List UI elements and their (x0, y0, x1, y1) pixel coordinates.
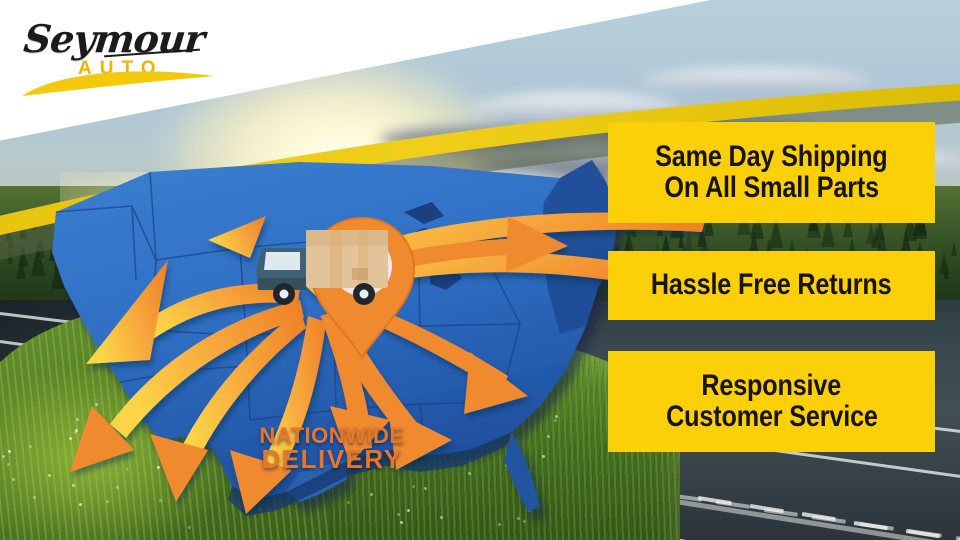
claim-line: Same Day Shipping (655, 142, 887, 173)
claim-line: On All Small Parts (664, 173, 879, 204)
claim-line: Hassle Free Returns (651, 270, 892, 301)
nationwide-delivery-label: NATIONWIDE DELIVERY (252, 425, 412, 472)
lane-dash (956, 536, 960, 540)
cloud (640, 68, 870, 94)
pine-tree-icon (871, 226, 881, 248)
promo-banner: Seymour AUTO (0, 0, 960, 540)
brand-logo[interactable]: Seymour AUTO (18, 14, 218, 100)
delivery-line-2: DELIVERY (252, 447, 412, 472)
claim-box-responsive-customer-service[interactable]: Responsive Customer Service (608, 351, 935, 452)
pine-tree-icon (939, 252, 949, 274)
pine-tree-icon (789, 238, 795, 252)
pine-tree-icon (766, 238, 772, 252)
claim-line: Customer Service (666, 402, 878, 433)
pine-tree-icon (951, 242, 957, 256)
claim-box-same-day-shipping[interactable]: Same Day Shipping On All Small Parts (608, 122, 935, 223)
pine-tree-icon (901, 230, 911, 252)
usa-map-graphic: NATIONWIDE DELIVERY (0, 120, 660, 520)
claim-line: Responsive (702, 371, 842, 402)
claim-box-hassle-free-returns[interactable]: Hassle Free Returns (608, 251, 935, 320)
logo-swoosh-icon (18, 66, 218, 100)
